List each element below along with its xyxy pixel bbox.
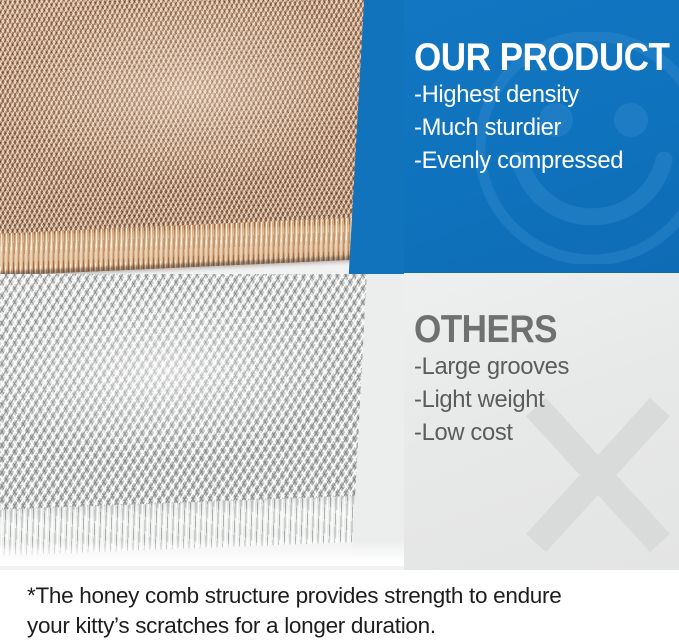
footnote-bar: *The honey comb structure provides stren… — [0, 570, 679, 643]
foam-pad-bottom-fade — [0, 540, 422, 566]
others-heading: OTHERS — [414, 310, 662, 350]
our-product-bullet-list: -Highest density -Much sturdier -Evenly … — [414, 78, 679, 177]
others-bullet-2: -Light weight — [414, 383, 679, 416]
others-bullet-1: -Large grooves — [414, 350, 679, 383]
others-bullet-list: -Large grooves -Light weight -Low cost — [414, 350, 679, 449]
product-comparison-infographic: OUR PRODUCT -Highest density -Much sturd… — [0, 0, 679, 643]
others-pad-photo — [0, 274, 422, 566]
our-product-text-block: OUR PRODUCT -Highest density -Much sturd… — [414, 38, 679, 177]
others-text-block: OTHERS -Large grooves -Light weight -Low… — [414, 310, 679, 449]
our-product-heading: OUR PRODUCT — [414, 38, 662, 78]
others-bullet-3: -Low cost — [414, 416, 679, 449]
our-product-pad-photo — [0, 0, 422, 282]
our-product-bullet-3: -Evenly compressed — [414, 144, 679, 177]
our-product-bullet-2: -Much sturdier — [414, 111, 679, 144]
footnote-line-2: your kitty’s scratches for a longer dura… — [27, 611, 663, 641]
footnote-text: *The honey comb structure provides stren… — [27, 581, 663, 640]
our-product-bullet-1: -Highest density — [414, 78, 679, 111]
footnote-line-1: *The honey comb structure provides stren… — [27, 581, 663, 611]
